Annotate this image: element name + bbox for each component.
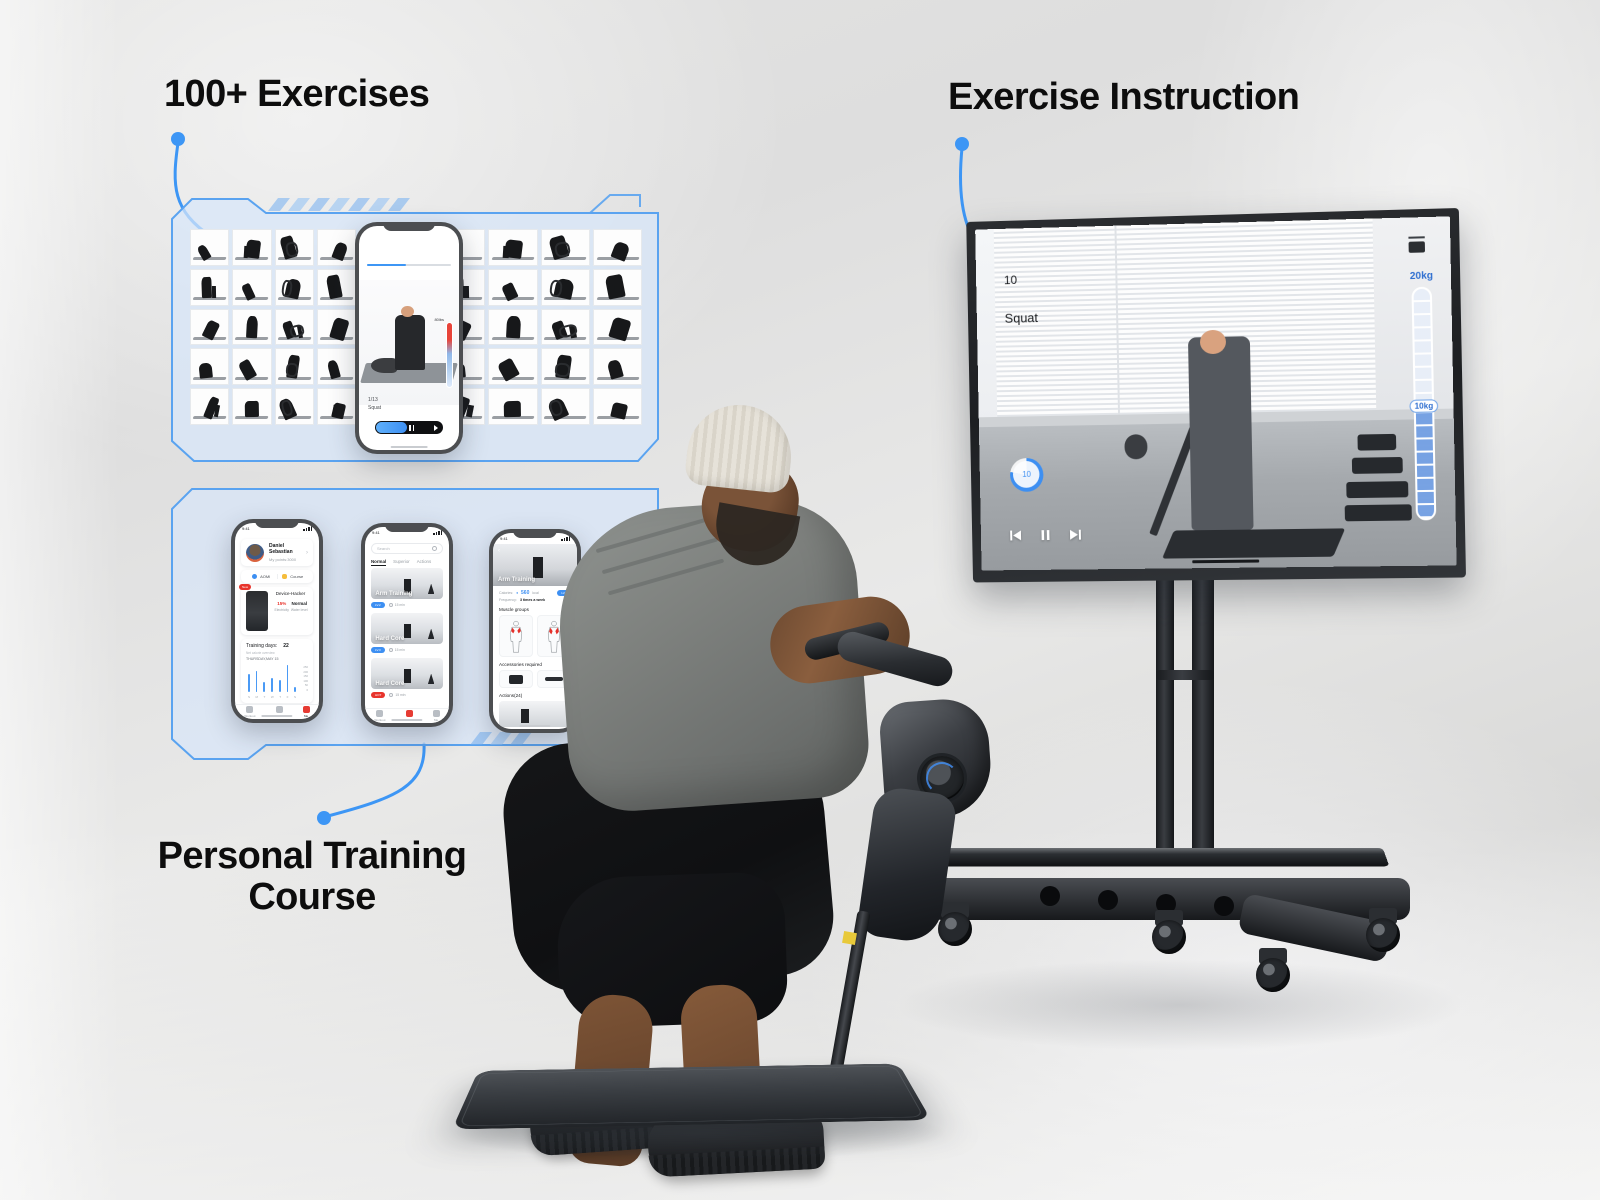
player-controls[interactable]	[375, 421, 443, 434]
course-level-badge: LV.2	[371, 602, 385, 608]
training-x-label: W	[271, 695, 274, 699]
signal-icon	[303, 526, 312, 531]
course-card[interactable]: Hard CoreLV.315 min	[371, 613, 443, 653]
training-bars	[248, 665, 296, 692]
player-meta: 1/13 Squat	[368, 396, 381, 412]
wall-light-left	[0, 0, 120, 1200]
tv-sensor-device	[1409, 241, 1425, 253]
training-bar	[271, 678, 273, 692]
training-bar	[287, 665, 289, 692]
dumbbell-rack-icon	[428, 629, 434, 640]
exercise-thumbnail[interactable]	[190, 229, 229, 266]
training-y-label: 0	[303, 688, 308, 692]
exercise-thumbnail[interactable]	[593, 348, 642, 385]
exercise-thumbnail[interactable]	[317, 388, 356, 425]
player-force-gauge	[446, 322, 453, 388]
phone-course-list[interactable]: 9:41 Search NormalSuperiorActions Arm Tr…	[361, 523, 453, 727]
profile-icon	[303, 706, 310, 713]
course-duration-label: 15 min	[395, 648, 405, 652]
phone-exercise-player[interactable]: 80lbs 1/13 Squat	[355, 222, 463, 454]
tabbar-item-workout[interactable]: Workout	[374, 710, 385, 722]
exercise-thumbnail[interactable]	[190, 348, 229, 385]
course-tab-superior[interactable]: Superior	[393, 559, 410, 564]
course-card-list[interactable]: Arm TrainingLV.215 minHard CoreLV.315 mi…	[371, 568, 443, 698]
segment-aomi[interactable]: AOMI	[246, 574, 278, 579]
training-y-label: 100	[303, 679, 308, 683]
exercise-thumbnail[interactable]	[317, 269, 356, 306]
athlete-figure	[395, 315, 425, 370]
exercise-thumbnail[interactable]	[190, 269, 229, 306]
course-card-title: Hard Core	[375, 636, 404, 642]
training-y-labels: 250200150100500	[303, 665, 308, 692]
new-badge: New	[239, 584, 251, 590]
exercise-thumbnail[interactable]	[488, 229, 537, 266]
player-video-frame: 80lbs	[359, 280, 459, 405]
exercise-thumbnail[interactable]	[232, 388, 271, 425]
player-progress-track[interactable]	[367, 264, 451, 266]
course-duration: 15 min	[389, 648, 405, 652]
device-stat-electricity: 15% Electricity	[273, 601, 291, 612]
caster-wheel	[1148, 910, 1190, 956]
training-bar	[279, 680, 281, 692]
tabbar-item-label: Me	[434, 718, 438, 722]
profile-header-card[interactable]: Daniel Sebastian My points:3000 ›	[241, 539, 313, 566]
exercise-thumbnail[interactable]	[317, 309, 356, 346]
resistance-trainer-device	[790, 620, 990, 1100]
tabbar-item-me[interactable]: Me	[433, 710, 440, 722]
exercise-thumbnail-grid-left[interactable]	[190, 229, 356, 425]
tabbar-item-label: Workout	[244, 714, 255, 718]
tv-screen: 10 Squat 10 20	[975, 216, 1456, 570]
training-x-labels: SMTWTFS	[248, 695, 296, 699]
profile-icon	[433, 710, 440, 717]
workout-icon	[376, 710, 383, 717]
training-days-title: Training days:22	[246, 643, 308, 649]
resistance-device	[371, 358, 397, 373]
course-card[interactable]: Hard CoreHOT15 min	[371, 658, 443, 698]
status-time: 9:41	[500, 536, 508, 541]
exercise-thumbnail-grid-right[interactable]	[436, 229, 642, 425]
dumbbell-rack-icon	[428, 584, 434, 595]
stand-shelf	[931, 848, 1390, 866]
exercise-thumbnail[interactable]	[232, 309, 271, 346]
player-exercise-name: Squat	[368, 404, 381, 412]
segment-aomi-label: AOMI	[260, 574, 270, 579]
device-body	[856, 785, 958, 945]
exercise-thumbnail[interactable]	[232, 269, 271, 306]
course-duration-label: 15 min	[395, 693, 405, 697]
tabbar-item-label: Workout	[374, 718, 385, 722]
search-placeholder: Search	[377, 546, 390, 551]
training-y-label: 200	[303, 670, 308, 674]
course-card-meta: LV.315 min	[371, 647, 443, 653]
tv-exercise-mat	[1163, 528, 1346, 558]
status-time: 9:41	[242, 526, 250, 531]
callout-title-exercises: 100+ Exercises	[164, 73, 429, 116]
tv-rep-count: 10	[1004, 273, 1017, 287]
callout-title-course: Personal Training Course	[152, 836, 472, 918]
previous-icon[interactable]	[1009, 529, 1023, 543]
tabbar-item-workout[interactable]: Workout	[244, 706, 255, 718]
status-bar: 9:41	[235, 523, 319, 534]
stand-hole	[1040, 886, 1060, 906]
training-bar	[248, 674, 250, 692]
training-days-label: Training days:	[246, 643, 277, 649]
training-bar	[294, 687, 296, 692]
product-marketing-scene: 100+ Exercises Exercise Instruction Pers…	[0, 0, 1600, 1200]
exercise-thumbnail[interactable]	[541, 309, 590, 346]
course-figure	[404, 624, 411, 639]
stand-crossbar	[1156, 670, 1214, 680]
exercise-thumbnail[interactable]	[317, 348, 356, 385]
phone-home-indicator	[391, 446, 428, 448]
status-time: 9:41	[372, 530, 380, 535]
player-gauge-label: 80lbs	[434, 317, 444, 322]
training-x-label: S	[248, 695, 250, 699]
course-duration: 15 min	[389, 603, 405, 607]
device-stat-electricity-value: 15%	[273, 601, 291, 606]
device-stat-water: Normal Water level	[291, 601, 309, 612]
exercise-thumbnail[interactable]	[275, 269, 314, 306]
profile-name: Daniel Sebastian	[269, 543, 306, 555]
player-screen: 80lbs 1/13 Squat	[359, 226, 459, 450]
tabbar-item-me[interactable]: Me	[303, 706, 310, 718]
dumbbell-rack-icon	[428, 674, 434, 685]
training-y-label: 50	[303, 683, 308, 687]
tv-media-controls[interactable]	[1009, 528, 1082, 543]
profile-segments[interactable]: AOMI Course	[241, 570, 313, 583]
exercise-thumbnail[interactable]	[275, 348, 314, 385]
course-card-hero: Hard Core	[371, 658, 443, 689]
tv-rep-ring: 10	[1010, 457, 1044, 491]
tabbar-item-label: Me	[304, 714, 308, 718]
next-icon[interactable]	[1068, 528, 1082, 542]
device-stat-electricity-label: Electricity	[273, 608, 291, 612]
exercise-thumbnail[interactable]	[232, 348, 271, 385]
tv-exercise-name: Squat	[1005, 310, 1039, 326]
training-days-value: 22	[283, 643, 289, 649]
tv-display: 10 Squat 10 20	[966, 215, 1460, 580]
tv-weight-max: 20kg	[1410, 271, 1433, 283]
training-x-label: T	[279, 695, 281, 699]
course-card-hero: Arm Training	[371, 568, 443, 599]
device-suit-image	[246, 591, 268, 631]
next-icon[interactable]	[434, 425, 438, 431]
pause-icon[interactable]	[1038, 528, 1052, 542]
exercise-thumbnail[interactable]	[190, 309, 229, 346]
phone-home-indicator	[519, 725, 550, 727]
dumbbell-rack	[1343, 434, 1412, 525]
stand-hole	[1214, 896, 1234, 916]
device-yellow-marker	[842, 931, 857, 945]
exercise-thumbnail[interactable]	[317, 229, 356, 266]
device-card[interactable]: New Device-Hacker 15% Electricity Normal…	[241, 587, 313, 635]
avatar	[246, 544, 264, 562]
training-bar-chart: SMTWTFS 250200150100500	[246, 665, 308, 699]
player-progress-fill	[367, 264, 406, 266]
search-icon	[432, 546, 437, 551]
tv-stand	[920, 560, 1440, 1030]
device-title: Device-Hacker	[273, 591, 308, 596]
training-days-card[interactable]: Training days:22 Net calorie overview TH…	[241, 639, 313, 703]
course-card-meta: HOT15 min	[371, 692, 443, 698]
exercise-thumbnail[interactable]	[275, 388, 314, 425]
phone-home-indicator	[261, 715, 292, 717]
athlete-beanie	[684, 400, 796, 494]
profile-screen: 9:41 Daniel Sebastian My points:3000 ›	[235, 523, 319, 719]
course-screen: 9:41 Search NormalSuperiorActions Arm Tr…	[365, 527, 449, 723]
course-card-title: Hard Core	[375, 681, 404, 687]
course-duration-label: 15 min	[395, 603, 405, 607]
course-tab-normal[interactable]: Normal	[371, 559, 386, 564]
exercise-thumbnail[interactable]	[232, 229, 271, 266]
segment-course-label: Course	[290, 574, 303, 579]
tv-athlete-body	[1188, 336, 1253, 530]
clock-icon	[389, 648, 393, 652]
course-icon	[276, 706, 283, 713]
course-card-hero: Hard Core	[371, 613, 443, 644]
phone-notch	[383, 222, 435, 231]
exercise-thumbnail[interactable]	[541, 348, 590, 385]
stand-column-right	[1192, 560, 1214, 860]
exercise-thumbnail[interactable]	[488, 348, 537, 385]
course-icon	[406, 710, 413, 717]
course-figure	[404, 669, 411, 684]
exercise-thumbnail[interactable]	[593, 309, 642, 346]
course-tabs[interactable]: NormalSuperiorActions	[371, 559, 443, 564]
search-input[interactable]: Search	[371, 543, 443, 554]
course-card-meta: LV.215 min	[371, 602, 443, 608]
tv-weight-fill	[1416, 413, 1434, 519]
course-level-badge: LV.3	[371, 647, 385, 653]
player-counter: 1/13	[368, 396, 381, 404]
clock-icon	[389, 693, 393, 697]
caster-wheel	[1362, 908, 1404, 954]
exercise-thumbnail[interactable]	[593, 269, 642, 306]
course-tab-actions[interactable]: Actions	[417, 559, 431, 564]
tv-rep-ring-value: 10	[1022, 470, 1031, 479]
diamond-icon	[252, 574, 257, 579]
training-x-label: T	[264, 695, 266, 699]
profile-body: Daniel Sebastian My points:3000 › AOMI C…	[235, 534, 319, 704]
course-card[interactable]: Arm TrainingLV.215 min	[371, 568, 443, 608]
course-card-title: Arm Training	[375, 591, 412, 597]
exercise-thumbnail[interactable]	[275, 229, 314, 266]
course-icon	[282, 574, 287, 579]
exercise-thumbnail[interactable]	[488, 309, 537, 346]
profile-points: My points:3000	[269, 557, 306, 562]
status-bar: 9:41	[365, 527, 449, 538]
course-body: Search NormalSuperiorActions Arm Trainin…	[365, 538, 449, 708]
clock-icon	[389, 603, 393, 607]
exercise-thumbnail[interactable]	[541, 229, 590, 266]
training-x-label: M	[256, 695, 259, 699]
course-duration: 15 min	[389, 693, 405, 697]
exercise-thumbnail[interactable]	[190, 388, 229, 425]
training-subtitle: Net calorie overview	[246, 651, 308, 655]
signal-icon	[561, 536, 570, 541]
training-x-label: F	[287, 695, 289, 699]
training-date: THURSDAY,MAY 15	[246, 657, 308, 661]
exercise-thumbnail[interactable]	[541, 269, 590, 306]
training-x-label: S	[294, 695, 296, 699]
stand-hole	[1098, 890, 1118, 910]
callout-title-instruction: Exercise Instruction	[948, 76, 1299, 119]
caster-wheel	[1252, 948, 1294, 994]
phone-profile[interactable]: 9:41 Daniel Sebastian My points:3000 ›	[231, 519, 323, 723]
device-arm	[834, 628, 956, 689]
device-stat-water-label: Water level	[291, 608, 309, 612]
player-control-progress	[376, 422, 407, 433]
segment-course[interactable]: Course	[278, 574, 309, 579]
training-bar	[256, 671, 258, 692]
workout-icon	[246, 706, 253, 713]
training-bar	[263, 682, 265, 692]
device-stat-water-value: Normal	[291, 601, 309, 606]
training-y-label: 250	[303, 665, 308, 669]
chevron-right-icon[interactable]: ›	[306, 550, 308, 556]
exercise-platform	[452, 1064, 931, 1130]
exercise-thumbnail[interactable]	[488, 269, 537, 306]
tv-device-flywheel	[1124, 435, 1148, 459]
exercise-thumbnail[interactable]	[275, 309, 314, 346]
tv-weight-current: 10kg	[1409, 400, 1438, 414]
exercise-thumbnail[interactable]	[593, 229, 642, 266]
training-y-label: 150	[303, 674, 308, 678]
course-level-badge: HOT	[371, 692, 385, 698]
stand-column-left	[1156, 560, 1174, 860]
status-bar: 9:41	[493, 533, 577, 544]
phone-home-indicator	[391, 719, 422, 721]
signal-icon	[433, 530, 442, 535]
pause-icon[interactable]	[409, 425, 414, 431]
